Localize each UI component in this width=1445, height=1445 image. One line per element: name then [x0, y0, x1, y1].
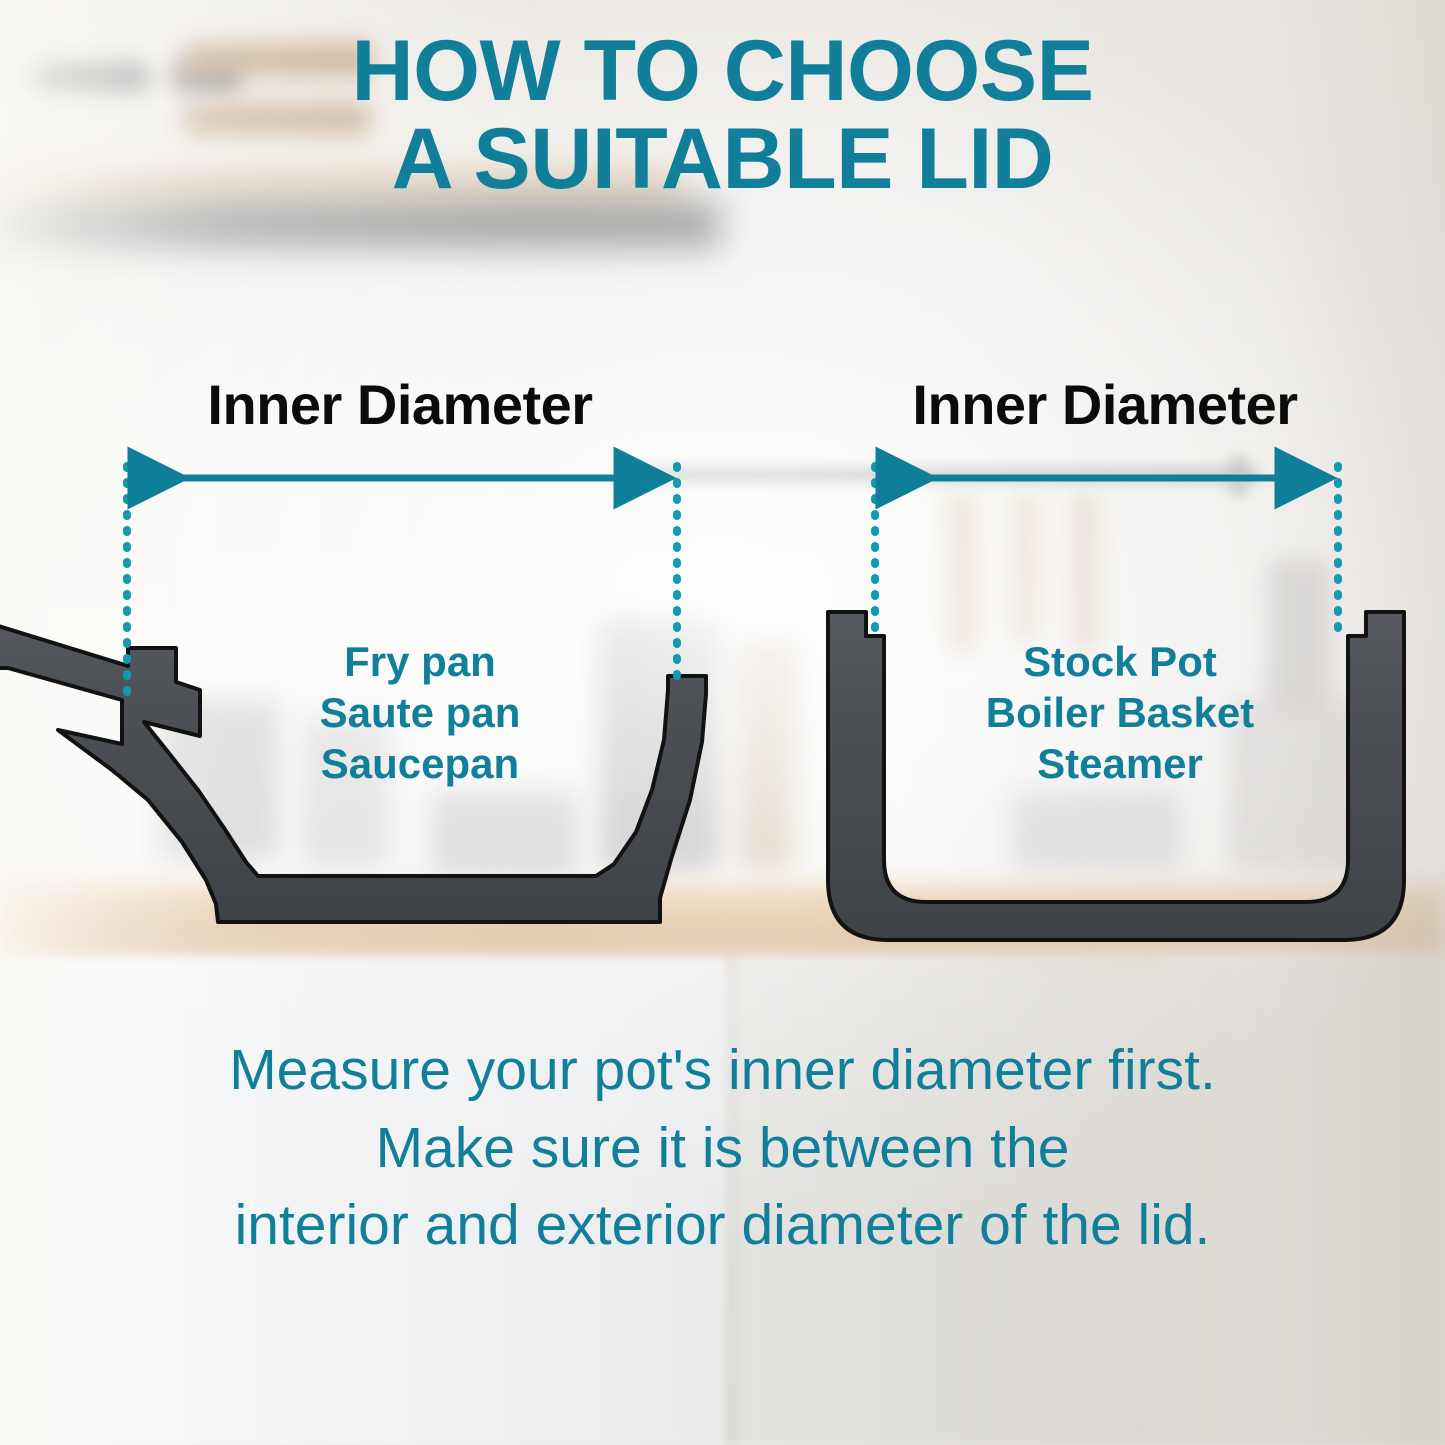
- infographic-canvas: HOW TO CHOOSE A SUITABLE LID Inner Diame…: [0, 0, 1445, 1445]
- page-title: HOW TO CHOOSE A SUITABLE LID: [0, 28, 1445, 203]
- left-cookware-types-label: Fry pan Saute pan Saucepan: [200, 636, 640, 790]
- right-dimension-guides: [875, 466, 1338, 638]
- instruction-text: Measure your pot's inner diameter first.…: [60, 1032, 1385, 1265]
- right-inner-diameter-label: Inner Diameter: [870, 372, 1340, 437]
- left-inner-diameter-label: Inner Diameter: [120, 372, 680, 437]
- right-cookware-types-label: Stock Pot Boiler Basket Steamer: [910, 636, 1330, 790]
